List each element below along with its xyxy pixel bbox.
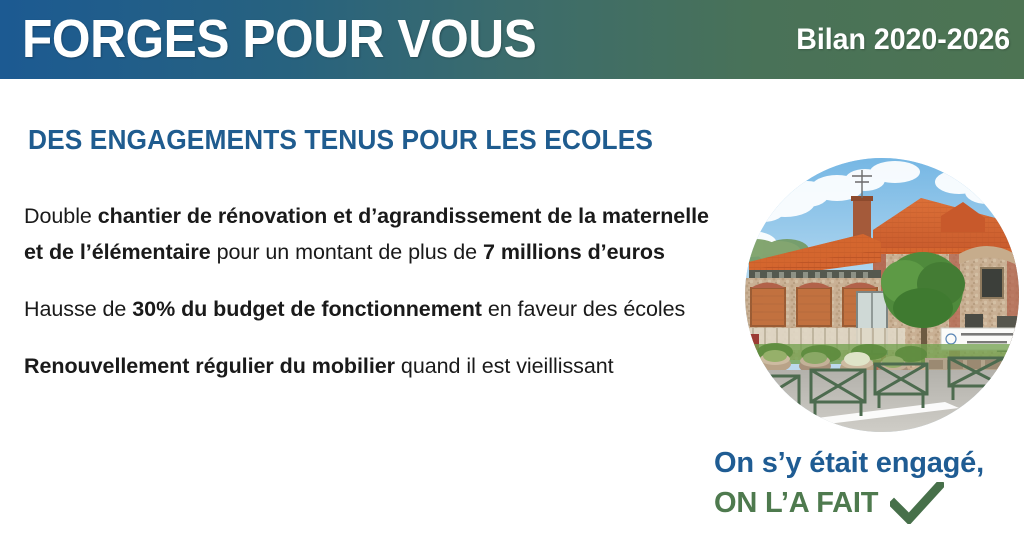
slogan-block: On s’y était engagé, ON L’A FAIT [714,444,1024,524]
bullet-paragraph-1: Double chantier de rénovation et d’agran… [24,198,716,270]
bullet-paragraph-3: Renouvellement régulier du mobilier quan… [24,348,716,384]
page-title: DES ENGAGEMENTS TENUS POUR LES ECOLES [28,124,653,156]
school-photo-image [745,158,1019,432]
header-banner: FORGES POUR VOUS Bilan 2020-2026 [0,0,1024,79]
para3-suffix: quand il est vieillissant [395,354,614,378]
para2-suffix: en faveur des écoles [482,297,685,321]
slogan-line-1: On s’y était engagé, [714,444,1024,482]
slogan-line-2-row: ON L’A FAIT [714,482,1024,524]
para2-prefix: Hausse de [24,297,132,321]
para1-prefix: Double [24,204,98,228]
para3-bold-1: Renouvellement régulier du mobilier [24,354,395,378]
para2-bold-1: 30% du budget de fonctionnement [132,297,482,321]
slogan-line-2: ON L’A FAIT [714,483,878,523]
bullet-paragraph-2: Hausse de 30% du budget de fonctionnemen… [24,291,716,327]
para1-middle: pour un montant de plus de [211,240,483,264]
body-copy: Double chantier de rénovation et d’agran… [24,198,716,384]
school-photo [745,158,1019,432]
brand-title: FORGES POUR VOUS [22,6,536,72]
balance-period-label: Bilan 2020-2026 [796,22,1010,58]
para1-bold-2: 7 millions d’euros [483,240,665,264]
check-icon [890,482,944,524]
slide-root: FORGES POUR VOUS Bilan 2020-2026 DES ENG… [0,0,1024,536]
